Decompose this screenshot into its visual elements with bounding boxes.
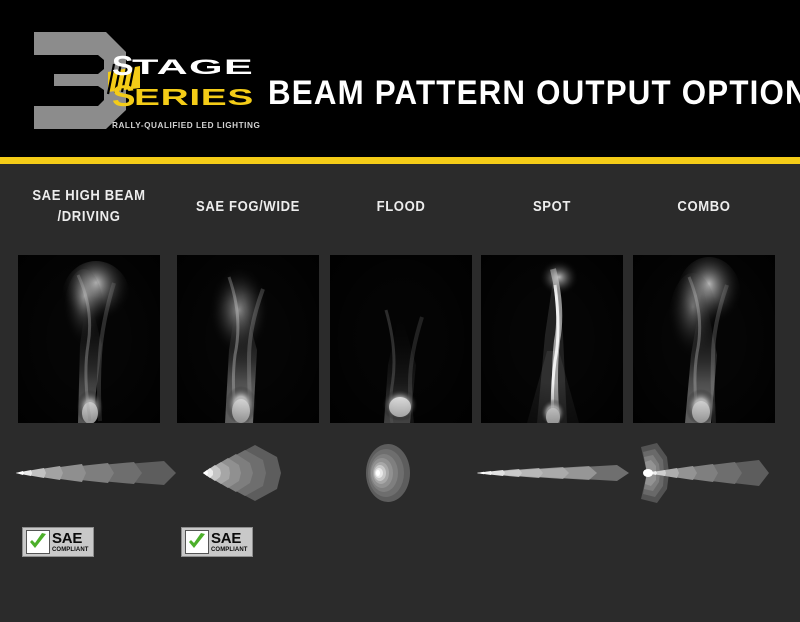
sae-badge-text: SAE COMPLIANT <box>211 531 248 553</box>
sae-badge-sub: COMPLIANT <box>211 547 248 553</box>
sae-badge-sub: COMPLIANT <box>52 547 89 553</box>
column-label-line1: SAE FOG/WIDE <box>196 199 300 215</box>
beam-photo <box>481 255 623 423</box>
svg-text:S: S <box>112 80 135 113</box>
sae-compliant-badge: SAE COMPLIANT <box>181 527 253 557</box>
sae-compliant-badge: SAE COMPLIANT <box>22 527 94 557</box>
beam-pattern-infographic: S TAGE S ERIES RALLY-QUALIFIED LED LIGHT… <box>0 0 800 622</box>
page-title: BEAM PATTERN OUTPUT OPTIONS <box>268 74 800 113</box>
logo-tagline: RALLY-QUALIFIED LED LIGHTING <box>112 121 260 130</box>
beam-photo <box>177 255 319 423</box>
beam-diagram <box>465 441 639 505</box>
logo-wordmark: S TAGE S ERIES <box>106 42 256 114</box>
column-flood: FLOOD <box>330 164 472 622</box>
column-sae-high-beam-driving: SAE HIGH BEAM /DRIVING <box>18 164 160 622</box>
sae-badge-main: SAE <box>52 531 89 546</box>
column-label-line1: FLOOD <box>377 199 426 215</box>
column-label-line1: SPOT <box>533 199 571 215</box>
column-sae-fog-wide: SAE FOG/WIDE <box>177 164 319 622</box>
column-label: SPOT <box>476 197 629 218</box>
column-combo: COMBO <box>633 164 775 622</box>
sae-badge-text: SAE COMPLIANT <box>52 531 89 553</box>
column-label: SAE HIGH BEAM /DRIVING <box>13 186 166 228</box>
column-label: COMBO <box>628 197 781 218</box>
check-icon <box>26 530 50 554</box>
beam-photo <box>18 255 160 423</box>
svg-text:TAGE: TAGE <box>132 56 254 79</box>
beam-photo <box>633 255 775 423</box>
check-icon <box>185 530 209 554</box>
column-label-line2: /DRIVING <box>57 209 120 225</box>
column-label-line1: SAE HIGH BEAM <box>32 188 145 204</box>
beam-photo <box>330 255 472 423</box>
svg-text:ERIES: ERIES <box>134 84 254 110</box>
svg-text:S: S <box>112 50 133 81</box>
beam-diagram <box>617 441 791 505</box>
beam-diagram <box>314 441 488 505</box>
yellow-divider <box>0 157 800 164</box>
column-label: FLOOD <box>325 197 478 218</box>
beam-diagram <box>2 441 176 505</box>
stage-series-logo: S TAGE S ERIES RALLY-QUALIFIED LED LIGHT… <box>28 24 243 134</box>
sae-badge-main: SAE <box>211 531 248 546</box>
column-spot: SPOT <box>481 164 623 622</box>
header-bar: S TAGE S ERIES RALLY-QUALIFIED LED LIGHT… <box>0 0 800 157</box>
beam-pattern-columns: SAE HIGH BEAM /DRIVING <box>0 164 800 622</box>
column-label: SAE FOG/WIDE <box>172 197 325 218</box>
column-label-line1: COMBO <box>677 199 730 215</box>
beam-diagram <box>161 441 335 505</box>
